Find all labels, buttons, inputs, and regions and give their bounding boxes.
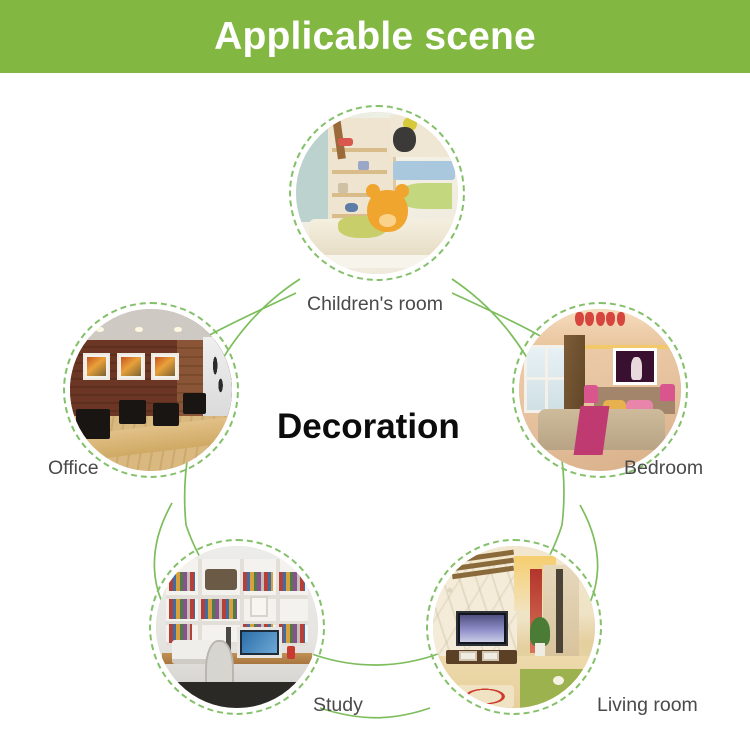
applicable-scene-infographic: Applicable scene xyxy=(0,0,750,750)
study-photo[interactable] xyxy=(156,546,318,708)
bedroom-photo[interactable] xyxy=(519,309,681,471)
office-photo[interactable] xyxy=(70,309,232,471)
children-room-photo[interactable] xyxy=(296,112,458,274)
living-room-label: Living room xyxy=(597,696,698,716)
children-room-label: Children's room xyxy=(307,295,443,315)
office-label: Office xyxy=(48,459,99,479)
bedroom-label: Bedroom xyxy=(624,459,703,479)
diagram-stage: Children's room Office xyxy=(0,73,750,750)
page-title: Applicable scene xyxy=(214,17,536,56)
header-banner: Applicable scene xyxy=(0,0,750,73)
living-room-photo[interactable] xyxy=(433,546,595,708)
study-label: Study xyxy=(313,696,363,716)
center-title: Decoration xyxy=(277,409,460,444)
